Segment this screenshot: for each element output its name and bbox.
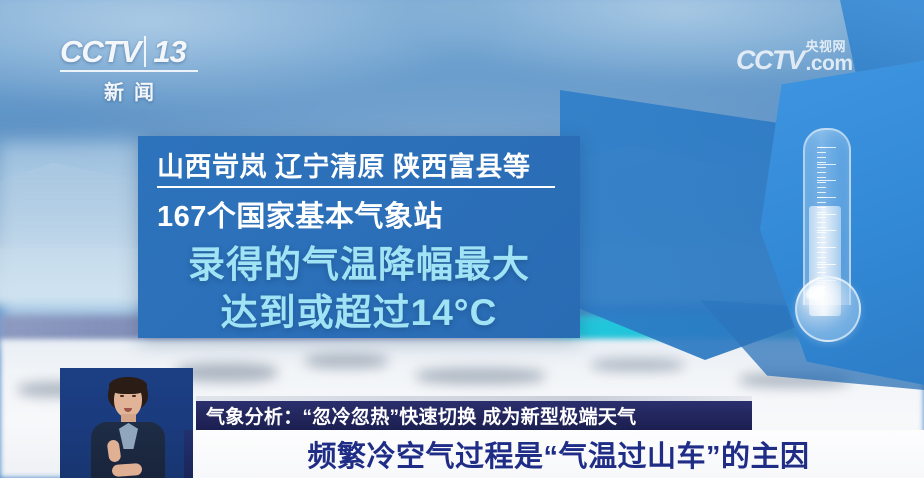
thermometer-tick-minor	[817, 272, 826, 273]
thermometer-tick-minor	[817, 217, 826, 218]
logo-channel-number: 13	[144, 36, 185, 67]
cctv-com-watermark: CCTV 央视网 .com	[736, 40, 853, 74]
info-panel-line-2: 167个国家基本气象站	[157, 193, 443, 235]
thermometer-graphic	[781, 128, 877, 346]
cctv-13-logo: CCTV 13 新闻	[60, 36, 210, 108]
interpreter-eye-left	[120, 395, 124, 397]
logo-underline	[60, 70, 198, 72]
thermometer-tick-minor	[817, 252, 826, 253]
logo-channel-name: 新闻	[60, 76, 198, 105]
background-cyan-patch	[564, 318, 712, 340]
thermometer-tick-minor	[817, 152, 826, 153]
logo-brand-text: CCTV	[60, 36, 140, 67]
thermometer-tick-minor	[817, 167, 826, 168]
background-detail	[591, 359, 683, 371]
thermometer-tick-minor	[817, 267, 826, 268]
subtitle-left-accent	[184, 430, 193, 478]
thermometer-tick-minor	[817, 157, 826, 158]
thermometer-tick-minor	[817, 227, 826, 228]
info-panel-line-4: 达到或超过14°C	[138, 282, 580, 336]
thermometer-tick-minor	[817, 177, 826, 178]
subtitle-text: 频繁冷空气过程是“气温过山车”的主因	[307, 433, 809, 475]
thermometer-tick-minor	[817, 222, 826, 223]
thermometer-tick-minor	[817, 232, 826, 233]
background-detail	[416, 368, 545, 384]
thermometer-tick-minor	[817, 257, 826, 258]
thermometer-tick-minor	[817, 187, 826, 188]
thermometer-tick-major	[817, 214, 836, 215]
background-ice-left	[0, 143, 148, 344]
thermometer-tick-major	[817, 197, 836, 198]
interpreter-eye-right	[132, 395, 136, 397]
watermark-brand: CCTV	[736, 48, 804, 74]
thermometer-tick-minor	[817, 182, 826, 183]
watermark-right-group: 央视网 .com	[806, 40, 853, 74]
thermometer-tick-minor	[817, 207, 826, 208]
thermometer-tick-minor	[817, 202, 826, 203]
thermometer-scale-ticks	[817, 146, 843, 296]
thermometer-tick-minor	[817, 237, 826, 238]
thermometer-tick-minor	[817, 192, 826, 193]
thermometer-tick-major	[817, 247, 836, 248]
thermometer-tick-major	[817, 264, 836, 265]
interpreter-hair-front	[109, 377, 147, 394]
info-panel-line-3: 录得的气温降幅最大	[138, 234, 580, 288]
broadcast-screen: CCTV 13 新闻 CCTV 央视网 .com 山西岢岚 辽宁清原 陕西富县等…	[0, 0, 924, 478]
background-detail	[739, 373, 850, 387]
thermometer-tick-minor	[817, 172, 826, 173]
thermometer-tick-major	[817, 180, 836, 181]
info-panel-line-1: 山西岢岚 辽宁清原 陕西富县等	[157, 145, 531, 184]
info-panel-divider	[157, 186, 555, 188]
headline-bar: 气象分析：“忽冷忽热”快速切换 成为新型极端天气	[196, 401, 752, 430]
headline-text: 气象分析：“忽冷忽热”快速切换 成为新型极端天气	[206, 402, 636, 429]
subtitle-band: 频繁冷空气过程是“气温过山车”的主因	[193, 430, 924, 478]
watermark-site-com: .com	[806, 53, 853, 74]
logo-wordmark-row: CCTV 13	[60, 36, 210, 67]
thermometer-tick-major	[817, 147, 836, 148]
sign-language-interpreter	[60, 368, 193, 478]
background-detail	[305, 354, 388, 368]
interpreter-hand-lower	[112, 463, 143, 477]
thermometer-tick-major	[817, 164, 836, 165]
thermometer-tick-major	[817, 230, 836, 231]
thermometer-bulb	[795, 276, 861, 342]
thermometer-tick-minor	[817, 242, 826, 243]
weather-info-panel: 山西岢岚 辽宁清原 陕西富县等 167个国家基本气象站 录得的气温降幅最大 达到…	[138, 136, 580, 338]
